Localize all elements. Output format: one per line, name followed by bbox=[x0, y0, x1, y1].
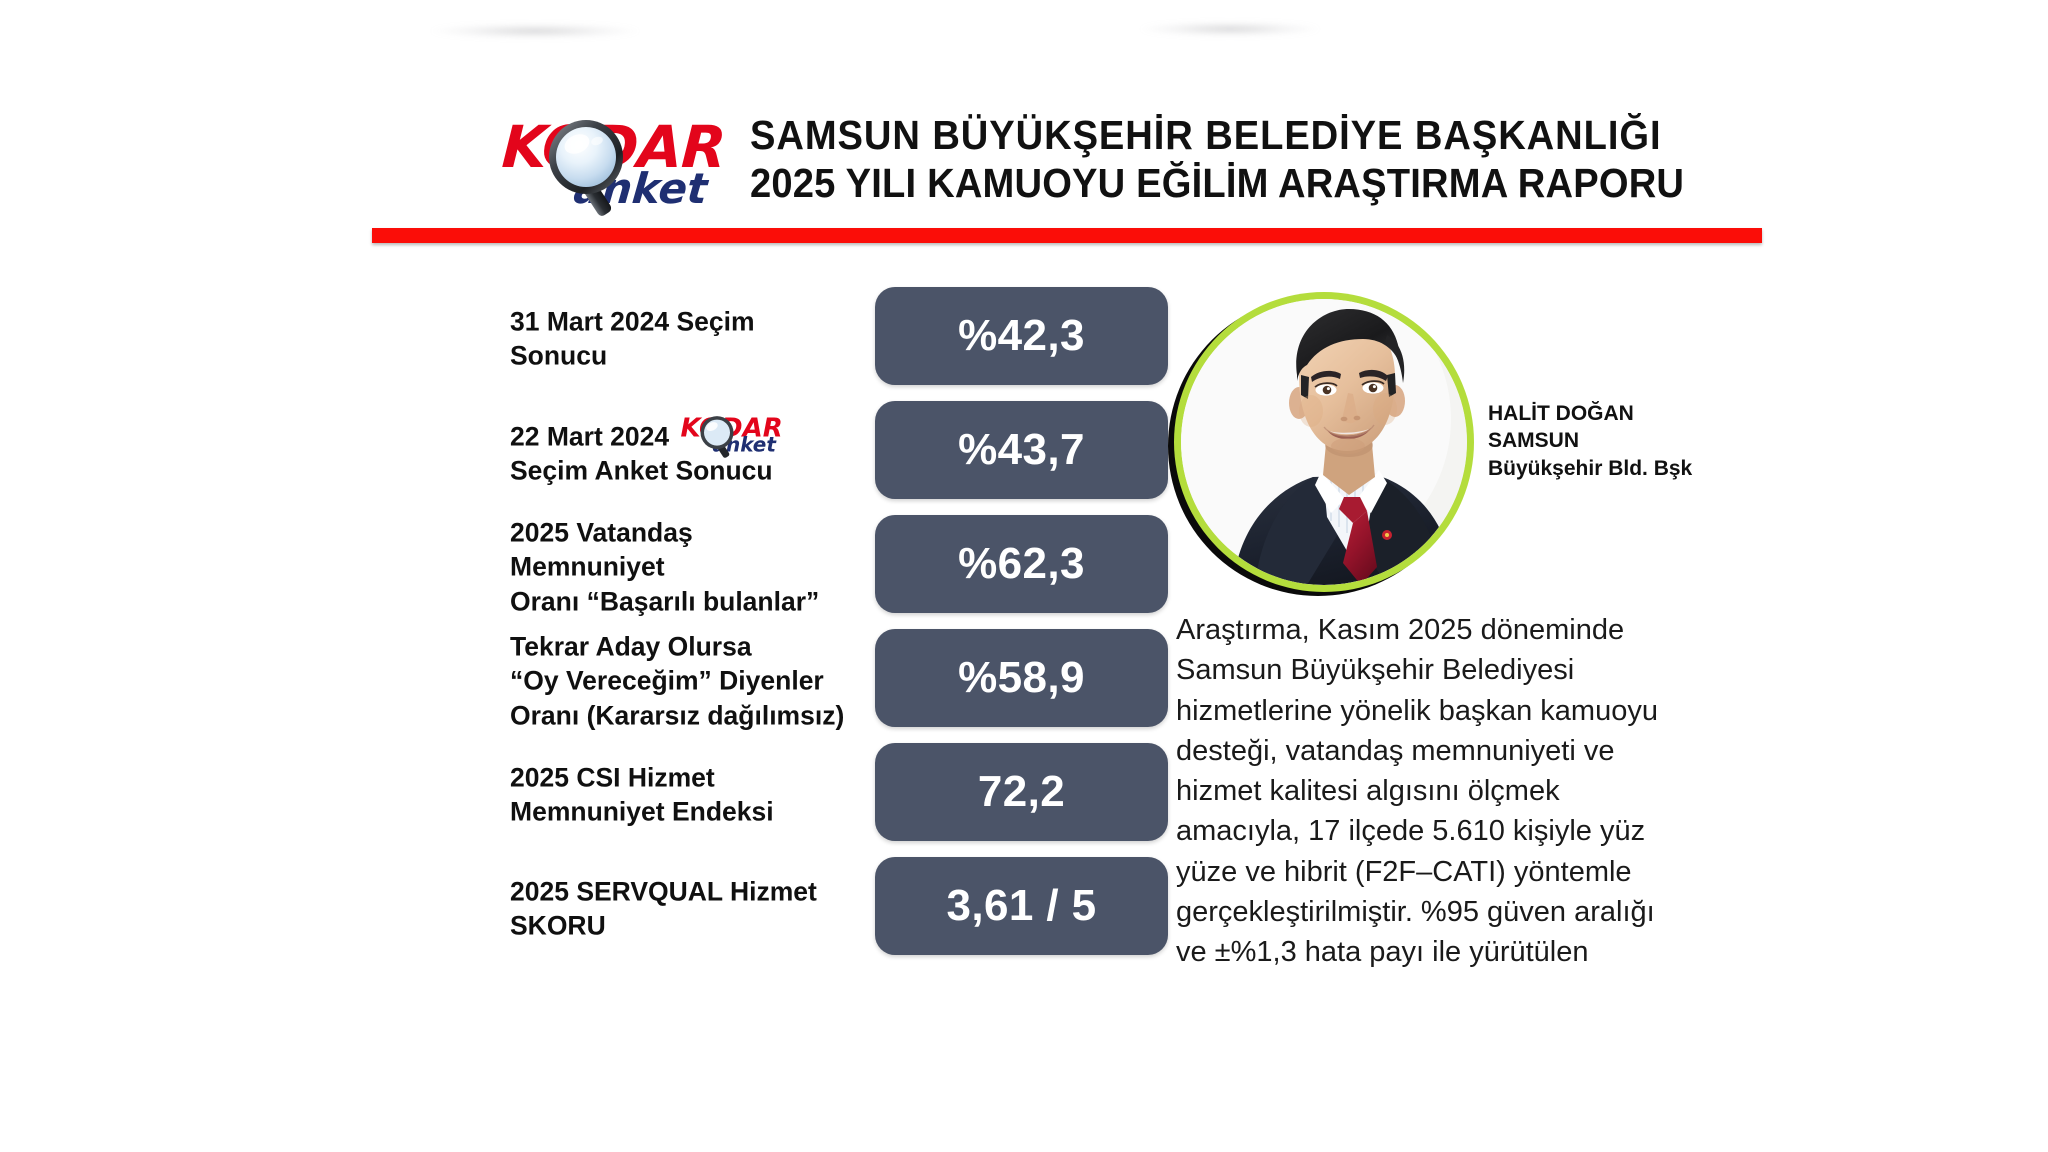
metric-label: 2025 Vatandaş Memnuniyet Oranı “Başarılı… bbox=[510, 515, 850, 618]
caption-city: SAMSUN bbox=[1488, 427, 1692, 454]
avatar-image bbox=[1181, 299, 1467, 585]
metric-label-text: 22 Mart 2024 bbox=[510, 422, 676, 452]
metric-label: 22 Mart 2024 KODAR anket Seçim Anket Son… bbox=[510, 418, 850, 489]
metric-value-pill: 3,61 / 5 bbox=[875, 857, 1168, 955]
metric-label: Tekrar Aday Olursa “Oy Vereceğim” Diyenl… bbox=[510, 629, 850, 732]
report-header: KODAR anket bbox=[372, 106, 1762, 224]
metric-value-pill: %62,3 bbox=[875, 515, 1168, 613]
summary-paragraph: Araştırma, Kasım 2025 döneminde Samsun B… bbox=[1176, 610, 1676, 973]
avatar-caption: HALİT DOĞAN SAMSUN Büyükşehir Bld. Bşk bbox=[1488, 400, 1692, 482]
avatar bbox=[1174, 292, 1474, 592]
metric-value-pill: 72,2 bbox=[875, 743, 1168, 841]
metric-label-line: Memnuniyet Endeksi bbox=[510, 795, 850, 829]
metric-value: %62,3 bbox=[958, 539, 1085, 589]
metric-label-line: 2025 SERVQUAL Hizmet bbox=[510, 875, 850, 909]
caption-name: HALİT DOĞAN bbox=[1488, 400, 1692, 427]
metric-label: 2025 CSI Hizmet Memnuniyet Endeksi bbox=[510, 761, 850, 830]
metric-value: %43,7 bbox=[958, 425, 1085, 475]
metric-value: %42,3 bbox=[958, 311, 1085, 361]
metric-label-line: Oranı “Başarılı bulanlar” bbox=[510, 584, 850, 618]
metric-label-line: Oranı (Kararsız dağılımsız) bbox=[510, 698, 850, 732]
kodar-anket-logo-inline: KODAR anket bbox=[680, 418, 784, 452]
magnifier-icon bbox=[699, 415, 739, 461]
metric-label: 2025 SERVQUAL Hizmet SKORU bbox=[510, 875, 850, 944]
metric-row: 2025 Vatandaş Memnuniyet Oranı “Başarılı… bbox=[0, 510, 1180, 624]
metric-value-pill: %58,9 bbox=[875, 629, 1168, 727]
metric-value: 72,2 bbox=[978, 767, 1065, 817]
logo-secondary-text: anket bbox=[572, 168, 709, 210]
metric-label-line: Tekrar Aday Olursa bbox=[510, 629, 850, 663]
metric-row: 31 Mart 2024 Seçim Sonucu %42,3 bbox=[0, 282, 1180, 396]
metric-row: 2025 SERVQUAL Hizmet SKORU 3,61 / 5 bbox=[0, 852, 1180, 966]
metric-row: 2025 CSI Hizmet Memnuniyet Endeksi 72,2 bbox=[0, 738, 1180, 852]
metric-label-line: “Oy Vereceğim” Diyenler bbox=[510, 664, 850, 698]
header-divider bbox=[372, 228, 1762, 243]
metric-label-line: SKORU bbox=[510, 909, 850, 943]
kodar-anket-logo: KODAR anket bbox=[502, 116, 732, 221]
metric-label-line: Seçim Anket Sonucu bbox=[510, 454, 850, 488]
title-line-2: 2025 YILI KAMUOYU EĞİLİM ARAŞTIRMA RAPOR… bbox=[750, 160, 1689, 208]
metric-label: 31 Mart 2024 Seçim Sonucu bbox=[510, 305, 850, 374]
metric-label-line: 31 Mart 2024 Seçim Sonucu bbox=[510, 305, 850, 374]
caption-role: Büyükşehir Bld. Bşk bbox=[1488, 455, 1692, 482]
metric-value-pill: %43,7 bbox=[875, 401, 1168, 499]
metric-value-pill: %42,3 bbox=[875, 287, 1168, 385]
page-title: SAMSUN BÜYÜKŞEHİR BELEDİYE BAŞKANLIĞI 20… bbox=[750, 112, 1760, 208]
metric-label-line: 2025 CSI Hizmet bbox=[510, 761, 850, 795]
metric-label-line: 22 Mart 2024 KODAR anket bbox=[510, 418, 850, 454]
metric-value: 3,61 / 5 bbox=[947, 881, 1097, 931]
title-line-1: SAMSUN BÜYÜKŞEHİR BELEDİYE BAŞKANLIĞI bbox=[750, 112, 1689, 160]
metric-row: 22 Mart 2024 KODAR anket Seçim Anket Son… bbox=[0, 396, 1180, 510]
metric-label-line: 2025 Vatandaş Memnuniyet bbox=[510, 515, 850, 584]
metric-row: Tekrar Aday Olursa “Oy Vereceğim” Diyenl… bbox=[0, 624, 1180, 738]
metrics-list: 31 Mart 2024 Seçim Sonucu %42,3 22 Mart … bbox=[0, 282, 1180, 966]
top-shadow-smudge-left bbox=[430, 24, 640, 38]
top-shadow-smudge-right bbox=[1140, 22, 1320, 36]
metric-value: %58,9 bbox=[958, 653, 1085, 703]
